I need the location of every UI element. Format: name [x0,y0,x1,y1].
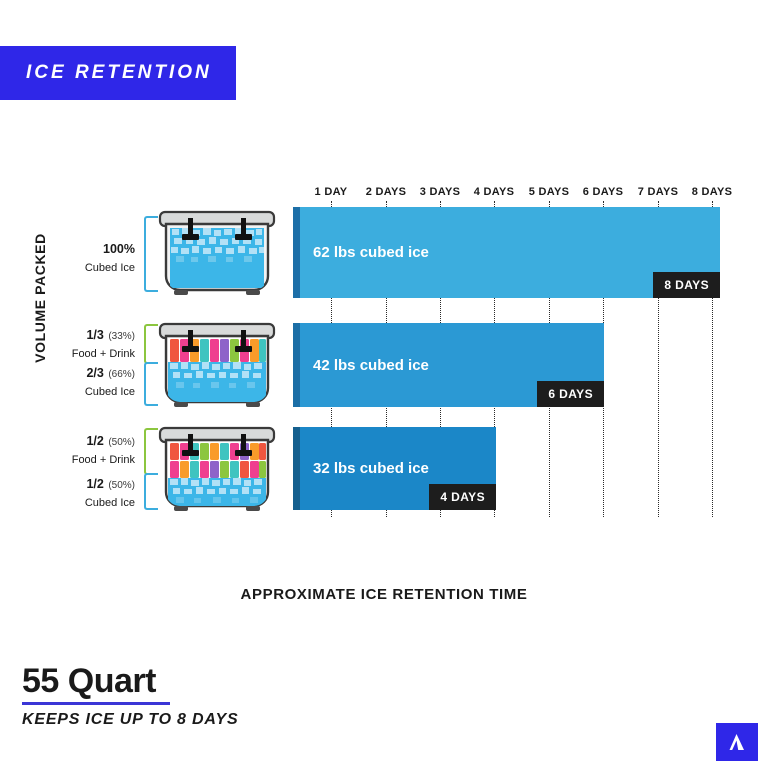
volume-label-row-2-food-drink: 1/3 (33%) Food + Drink [25,326,135,363]
bar-row-1: 62 lbs cubed ice 8 DAYS [293,207,720,298]
volume-sublabel-row-1-a: Cubed Ice [85,262,135,274]
volume-sublabel-row-2-b: Cubed Ice [85,386,135,398]
footer-divider [22,702,170,705]
cooler-illustration-row-3 [158,424,276,512]
day-badge-row-3: 4 DAYS [429,484,496,510]
volume-label-row-2-cubed-ice: 2/3 (66%) Cubed Ice [25,364,135,401]
axis-tick-label-6days: 6 DAYS [583,186,624,198]
x-axis-caption: APPROXIMATE ICE RETENTION TIME [0,586,768,603]
volume-percent-row-3-a: (50%) [108,437,135,448]
volume-fraction-row-2-a: 1/3 [86,328,103,342]
day-badge-row-1: 8 DAYS [653,272,720,298]
axis-tick-label-5days: 5 DAYS [529,186,570,198]
bracket-row-1-cubed-ice [144,216,158,292]
volume-fraction-row-1-a: 100% [103,242,135,256]
volume-label-row-1: 100% Cubed Ice [30,240,135,277]
day-badge-row-2: 6 DAYS [537,381,604,407]
product-size-title: 55 Quart [22,664,238,700]
bracket-row-3-cubed-ice [144,473,158,510]
bracket-row-2-food-drink [144,324,158,364]
bracket-row-2-cubed-ice [144,362,158,406]
volume-percent-row-2-b: (66%) [108,369,135,380]
axis-tick-label-3days: 3 DAYS [420,186,461,198]
bar-label-row-1: 62 lbs cubed ice [293,244,429,261]
footer-block: 55 Quart KEEPS ICE UP TO 8 DAYS [22,664,238,729]
cooler-illustration-row-2 [158,320,276,408]
ice-retention-chart: VOLUME PACKED 1 DAY 2 DAYS 3 DAYS 4 DAYS… [0,0,768,768]
axis-tick-label-4days: 4 DAYS [474,186,515,198]
bar-label-row-3: 32 lbs cubed ice [293,460,429,477]
volume-percent-row-3-b: (50%) [108,480,135,491]
volume-fraction-row-3-a: 1/2 [86,434,103,448]
volume-percent-row-2-a: (33%) [108,331,135,342]
bar-row-3: 32 lbs cubed ice 4 DAYS [293,427,496,510]
volume-label-row-3-cubed-ice: 1/2 (50%) Cubed Ice [25,475,135,512]
axis-tick-label-1day: 1 DAY [315,186,348,198]
cooler-illustration-row-1 [158,208,276,296]
bracket-row-3-food-drink [144,428,158,475]
volume-label-row-3-food-drink: 1/2 (50%) Food + Drink [25,432,135,469]
volume-sublabel-row-2-a: Food + Drink [72,348,135,360]
volume-sublabel-row-3-b: Cubed Ice [85,497,135,509]
volume-fraction-row-2-b: 2/3 [86,366,103,380]
volume-sublabel-row-3-a: Food + Drink [72,454,135,466]
brand-logo [716,723,758,761]
product-tagline: KEEPS ICE UP TO 8 DAYS [22,711,238,729]
axis-tick-label-7days: 7 DAYS [638,186,679,198]
mountain-chevron-icon [725,731,749,753]
axis-tick-label-8days: 8 DAYS [692,186,733,198]
volume-fraction-row-3-b: 1/2 [86,477,103,491]
axis-tick-label-2days: 2 DAYS [366,186,407,198]
bar-label-row-2: 42 lbs cubed ice [293,357,429,374]
bar-row-2: 42 lbs cubed ice 6 DAYS [293,323,604,407]
